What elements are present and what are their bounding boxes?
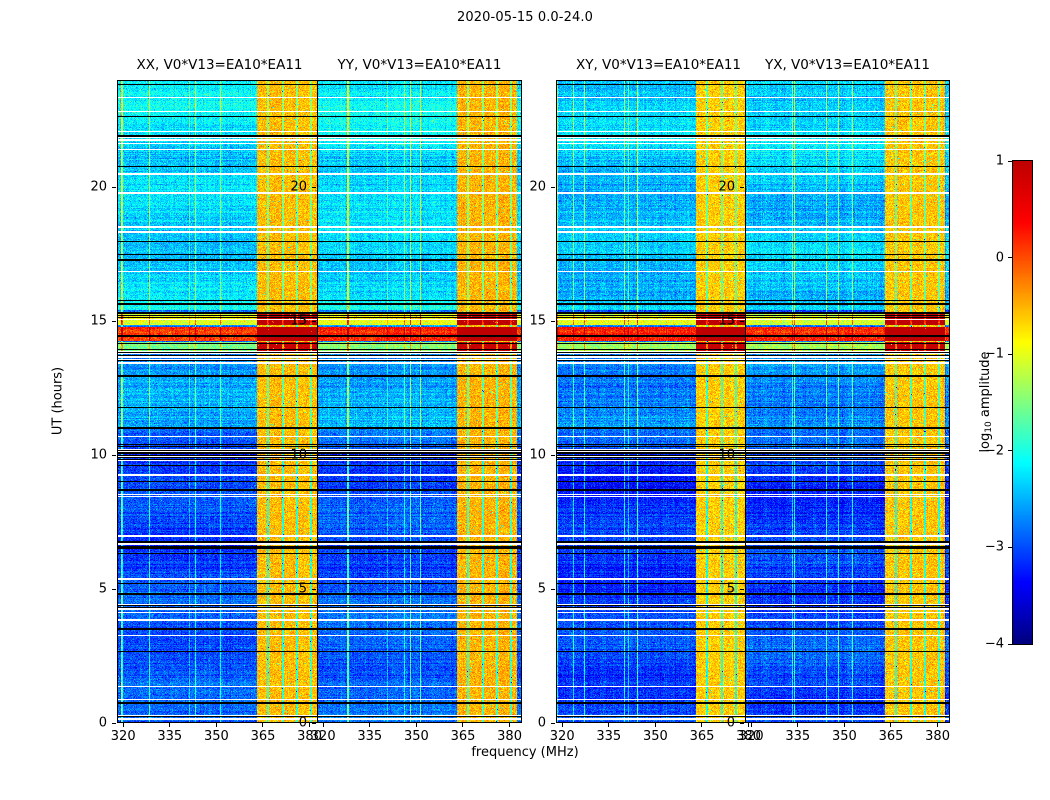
x-tick bbox=[562, 723, 563, 727]
y-tick bbox=[312, 589, 316, 590]
y-tick-label: 0 bbox=[538, 716, 546, 731]
y-tick bbox=[740, 723, 744, 724]
y-tick bbox=[112, 455, 116, 456]
colorbar-tick bbox=[1008, 644, 1013, 645]
x-tick bbox=[462, 723, 463, 727]
x-tick bbox=[937, 723, 938, 727]
x-tick-label: 320 bbox=[111, 729, 136, 744]
waterfall-image-yx bbox=[745, 80, 950, 723]
y-tick bbox=[551, 723, 555, 724]
colorbar-label-suffix: amplitude bbox=[978, 351, 993, 421]
y-tick-label: 0 bbox=[727, 716, 735, 731]
y-tick-label: 15 bbox=[290, 314, 307, 329]
y-tick-label: 10 bbox=[718, 448, 735, 463]
x-tick-label: 365 bbox=[879, 729, 904, 744]
colorbar-label: log10 amplitude bbox=[978, 351, 994, 452]
x-tick-label: 380 bbox=[497, 729, 522, 744]
y-tick bbox=[312, 723, 316, 724]
colorbar[interactable]: 10−1−2−3−4 bbox=[1012, 160, 1033, 645]
y-tick bbox=[112, 321, 116, 322]
x-tick bbox=[216, 723, 217, 727]
x-tick-label: 350 bbox=[643, 729, 668, 744]
y-tick-label: 15 bbox=[718, 314, 735, 329]
x-tick bbox=[655, 723, 656, 727]
colorbar-tick-label: −4 bbox=[985, 637, 1004, 652]
heatmap-panel-yx[interactable]: YX, V0*V13=EA10*EA11 320335350365380 051… bbox=[745, 80, 950, 723]
y-tick-label: 0 bbox=[299, 716, 307, 731]
x-tick-label: 365 bbox=[690, 729, 715, 744]
y-tick bbox=[551, 589, 555, 590]
x-tick-label: 335 bbox=[157, 729, 182, 744]
y-tick bbox=[551, 321, 555, 322]
colorbar-label-sub: 10 bbox=[984, 421, 994, 432]
x-tick bbox=[608, 723, 609, 727]
x-tick-label: 335 bbox=[596, 729, 621, 744]
colorbar-tick bbox=[1008, 257, 1013, 258]
y-tick bbox=[740, 589, 744, 590]
x-tick-label: 380 bbox=[925, 729, 950, 744]
x-tick bbox=[701, 723, 702, 727]
x-tick bbox=[309, 723, 310, 727]
x-tick-label: 335 bbox=[357, 729, 382, 744]
y-tick bbox=[312, 455, 316, 456]
y-tick-label: 5 bbox=[299, 582, 307, 597]
x-tick bbox=[323, 723, 324, 727]
panel-title-xx: XX, V0*V13=EA10*EA11 bbox=[117, 57, 322, 73]
y-tick-label: 5 bbox=[538, 582, 546, 597]
y-tick-label: 10 bbox=[90, 448, 107, 463]
colorbar-tick bbox=[1008, 354, 1013, 355]
x-tick bbox=[262, 723, 263, 727]
figure-canvas: 2020-05-15 0.0-24.0 XX, V0*V13=EA10*EA11… bbox=[0, 0, 1050, 800]
x-tick bbox=[369, 723, 370, 727]
y-tick bbox=[740, 455, 744, 456]
x-tick-label: 365 bbox=[451, 729, 476, 744]
y-tick-label: 5 bbox=[727, 582, 735, 597]
heatmap-panel-xx[interactable]: XX, V0*V13=EA10*EA11 320335350365380 051… bbox=[117, 80, 322, 723]
panel-title-yx: YX, V0*V13=EA10*EA11 bbox=[745, 57, 950, 73]
y-tick-label: 5 bbox=[99, 582, 107, 597]
waterfall-image-yy bbox=[317, 80, 522, 723]
x-tick-label: 320 bbox=[311, 729, 336, 744]
x-tick bbox=[169, 723, 170, 727]
colorbar-tick-label: −3 bbox=[985, 540, 1004, 555]
y-tick bbox=[112, 589, 116, 590]
x-tick-label: 350 bbox=[404, 729, 429, 744]
x-tick bbox=[509, 723, 510, 727]
y-tick bbox=[312, 321, 316, 322]
y-tick bbox=[112, 187, 116, 188]
colorbar-gradient bbox=[1013, 161, 1032, 644]
colorbar-label-prefix: log bbox=[978, 433, 993, 453]
x-tick bbox=[751, 723, 752, 727]
y-tick bbox=[112, 723, 116, 724]
panel-title-xy: XY, V0*V13=EA10*EA11 bbox=[556, 57, 761, 73]
figure-suptitle: 2020-05-15 0.0-24.0 bbox=[0, 10, 1050, 25]
colorbar-tick bbox=[1008, 450, 1013, 451]
colorbar-tick-label: 0 bbox=[996, 250, 1004, 265]
y-tick-label: 20 bbox=[290, 180, 307, 195]
y-tick-label: 20 bbox=[529, 180, 546, 195]
x-tick-label: 350 bbox=[832, 729, 857, 744]
y-tick bbox=[312, 187, 316, 188]
colorbar-tick-label: 1 bbox=[996, 154, 1004, 169]
x-tick-label: 350 bbox=[204, 729, 229, 744]
waterfall-image-xx bbox=[117, 80, 322, 723]
x-tick-label: 320 bbox=[739, 729, 764, 744]
y-tick bbox=[551, 455, 555, 456]
x-tick-label: 335 bbox=[785, 729, 810, 744]
x-tick bbox=[844, 723, 845, 727]
x-axis-label: frequency (MHz) bbox=[0, 745, 1050, 760]
y-tick-label: 20 bbox=[90, 180, 107, 195]
y-tick bbox=[551, 187, 555, 188]
y-tick bbox=[740, 321, 744, 322]
x-tick bbox=[416, 723, 417, 727]
y-tick-label: 15 bbox=[529, 314, 546, 329]
x-tick bbox=[123, 723, 124, 727]
y-tick-label: 0 bbox=[99, 716, 107, 731]
waterfall-image-xy bbox=[556, 80, 761, 723]
x-tick-label: 320 bbox=[550, 729, 575, 744]
colorbar-tick bbox=[1008, 547, 1013, 548]
y-tick-label: 15 bbox=[90, 314, 107, 329]
x-tick bbox=[890, 723, 891, 727]
panel-title-yy: YY, V0*V13=EA10*EA11 bbox=[317, 57, 522, 73]
y-axis-label: UT (hours) bbox=[51, 367, 66, 435]
x-tick-label: 365 bbox=[251, 729, 276, 744]
y-tick-label: 20 bbox=[718, 180, 735, 195]
y-tick bbox=[740, 187, 744, 188]
colorbar-tick bbox=[1008, 161, 1013, 162]
heatmap-panel-yy[interactable]: YY, V0*V13=EA10*EA11 320335350365380 051… bbox=[317, 80, 522, 723]
y-tick-label: 10 bbox=[290, 448, 307, 463]
x-tick bbox=[797, 723, 798, 727]
heatmap-panel-xy[interactable]: XY, V0*V13=EA10*EA11 320335350365380 051… bbox=[556, 80, 761, 723]
y-tick-label: 10 bbox=[529, 448, 546, 463]
